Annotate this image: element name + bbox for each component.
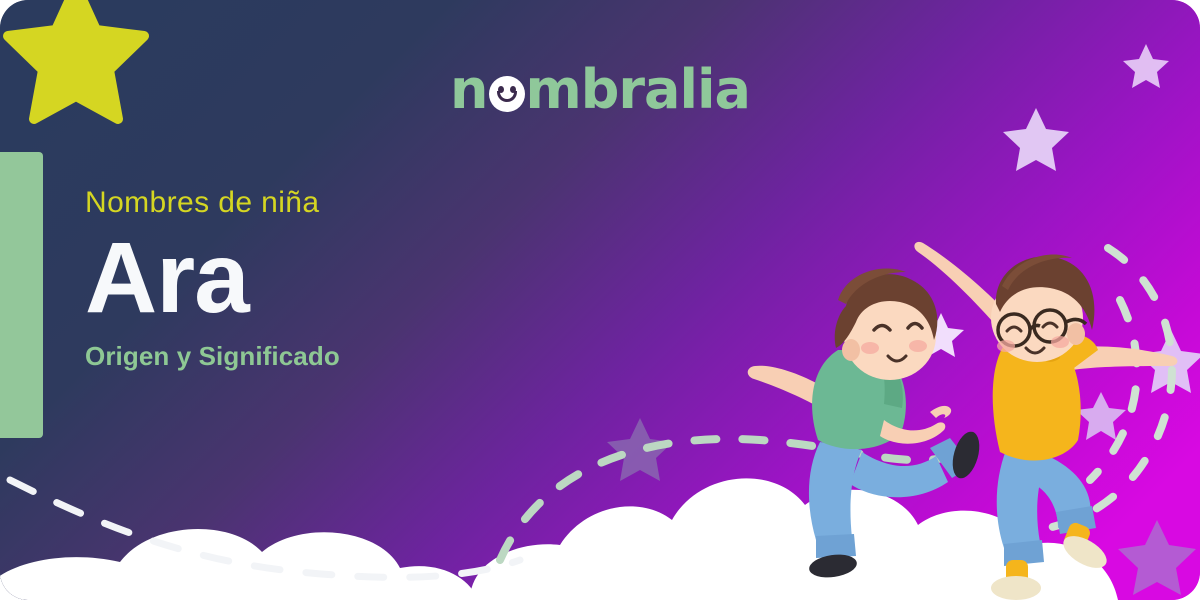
- site-logo[interactable]: nmbralia: [0, 58, 1200, 121]
- accent-bar: [0, 152, 43, 438]
- hero-subtitle: Origen y Significado: [85, 341, 605, 372]
- hero-text-block: Nombres de niña Ara Origen y Significado: [85, 186, 605, 372]
- logo-text-after: mbralia: [526, 58, 750, 121]
- hero-kicker: Nombres de niña: [85, 186, 605, 219]
- logo-text-before: n: [450, 58, 487, 121]
- smiley-face-icon: [489, 76, 525, 112]
- name-hero-card: nmbralia Nombres de niña Ara Origen y Si…: [0, 0, 1200, 600]
- page-title: Ara: [85, 225, 605, 331]
